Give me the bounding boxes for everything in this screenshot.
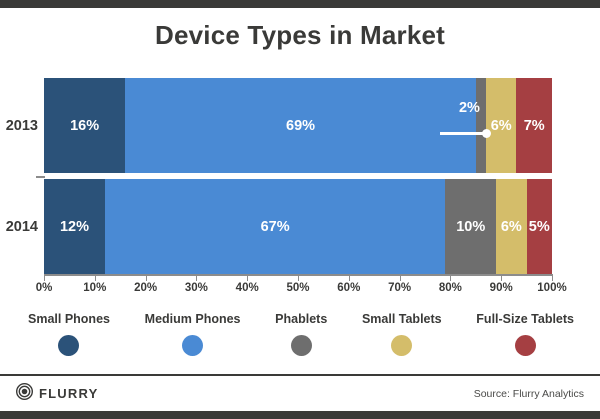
legend-item-medium-phones[interactable]: Medium Phones	[145, 312, 241, 356]
brand-logo: FLURRY	[16, 383, 98, 405]
x-axis-tick-70	[400, 275, 401, 281]
bar-value-label-medium-phones-2014: 67%	[261, 219, 290, 235]
x-axis-tick-100	[552, 275, 553, 281]
legend-item-label: Phablets	[275, 312, 327, 326]
x-axis-tick-label-60: 60%	[337, 282, 360, 294]
x-axis-tick-0	[44, 275, 45, 281]
x-axis-tick-label-20: 20%	[134, 282, 157, 294]
bar-segment-small-phones-2013[interactable]: 16%	[44, 78, 125, 173]
bar-segment-small-phones-2014[interactable]: 12%	[44, 179, 105, 274]
legend-item-full-size-tablets[interactable]: Full-Size Tablets	[476, 312, 574, 356]
callout-leader-line-phablets-2013	[440, 132, 486, 135]
top-border-bar	[0, 0, 600, 8]
legend-item-label: Medium Phones	[145, 312, 241, 326]
bar-segment-medium-phones-2014[interactable]: 67%	[105, 179, 445, 274]
brand-name: FLURRY	[39, 386, 98, 401]
x-axis-tick-label-100: 100%	[537, 282, 566, 294]
bar-segment-phablets-2013[interactable]: 2%	[476, 78, 486, 173]
x-axis-tick-50	[298, 275, 299, 281]
legend-item-small-tablets[interactable]: Small Tablets	[362, 312, 442, 356]
bar-row-2014: 12%67%10%6%5%	[44, 179, 552, 274]
x-axis-tick-60	[349, 275, 350, 281]
x-axis-tick-20	[146, 275, 147, 281]
x-axis-tick-label-10: 10%	[83, 282, 106, 294]
bar-value-label-full-size-tablets-2013: 7%	[524, 118, 545, 134]
legend-swatch-medium-phones	[182, 335, 203, 356]
legend-item-label: Small Phones	[28, 312, 110, 326]
callout-dot-phablets-2013	[482, 129, 491, 138]
x-axis-tick-40	[247, 275, 248, 281]
y-axis-label-2014: 2014	[0, 219, 38, 235]
bar-segment-phablets-2014[interactable]: 10%	[445, 179, 496, 274]
chart-canvas: Device Types in Market 2013 2014 16%69%2…	[0, 0, 600, 419]
legend-swatch-full-size-tablets	[515, 335, 536, 356]
x-axis-tick-80	[450, 275, 451, 281]
bar-value-label-medium-phones-2013: 69%	[286, 118, 315, 134]
x-axis-tick-label-70: 70%	[388, 282, 411, 294]
x-axis-tick-label-0: 0%	[36, 282, 53, 294]
x-axis-tick-label-80: 80%	[439, 282, 462, 294]
page-title: Device Types in Market	[0, 20, 600, 51]
x-axis-tick-label-50: 50%	[286, 282, 309, 294]
x-axis-tick-label-40: 40%	[236, 282, 259, 294]
x-axis-tick-30	[196, 275, 197, 281]
bar-value-label-phablets-2013: 2%	[459, 100, 480, 116]
bar-segment-full-size-tablets-2013[interactable]: 7%	[516, 78, 552, 173]
legend-item-small-phones[interactable]: Small Phones	[28, 312, 110, 356]
bar-value-label-small-phones-2013: 16%	[70, 118, 99, 134]
bar-value-label-small-phones-2014: 12%	[60, 219, 89, 235]
flurry-ring-icon	[16, 383, 33, 405]
legend-swatch-small-tablets	[391, 335, 412, 356]
plot-area: 16%69%2%6%7% 12%67%10%6%5%	[44, 78, 552, 274]
source-attribution: Source: Flurry Analytics	[474, 388, 584, 400]
bar-segment-medium-phones-2013[interactable]: 69%	[125, 78, 476, 173]
bar-value-label-full-size-tablets-2014: 5%	[529, 219, 550, 235]
bar-value-label-phablets-2014: 10%	[456, 219, 485, 235]
x-axis-tick-10	[95, 275, 96, 281]
y-axis-label-2013: 2013	[0, 118, 38, 134]
bottom-border-bar	[0, 411, 600, 419]
footer: FLURRY Source: Flurry Analytics	[0, 376, 600, 411]
bar-value-label-small-tablets-2013: 6%	[491, 118, 512, 134]
legend-swatch-small-phones	[58, 335, 79, 356]
chart-legend: Small PhonesMedium PhonesPhabletsSmall T…	[28, 312, 574, 356]
bar-segment-small-tablets-2013[interactable]: 6%	[486, 78, 516, 173]
legend-swatch-phablets	[291, 335, 312, 356]
bar-row-2013: 16%69%2%6%7%	[44, 78, 552, 173]
x-axis-tick-label-30: 30%	[185, 282, 208, 294]
legend-item-phablets[interactable]: Phablets	[275, 312, 327, 356]
bar-value-label-small-tablets-2014: 6%	[501, 219, 522, 235]
legend-item-label: Small Tablets	[362, 312, 442, 326]
x-axis-tick-90	[501, 275, 502, 281]
legend-item-label: Full-Size Tablets	[476, 312, 574, 326]
bar-segment-small-tablets-2014[interactable]: 6%	[496, 179, 526, 274]
bar-segment-full-size-tablets-2014[interactable]: 5%	[527, 179, 552, 274]
x-axis-tick-label-90: 90%	[490, 282, 513, 294]
